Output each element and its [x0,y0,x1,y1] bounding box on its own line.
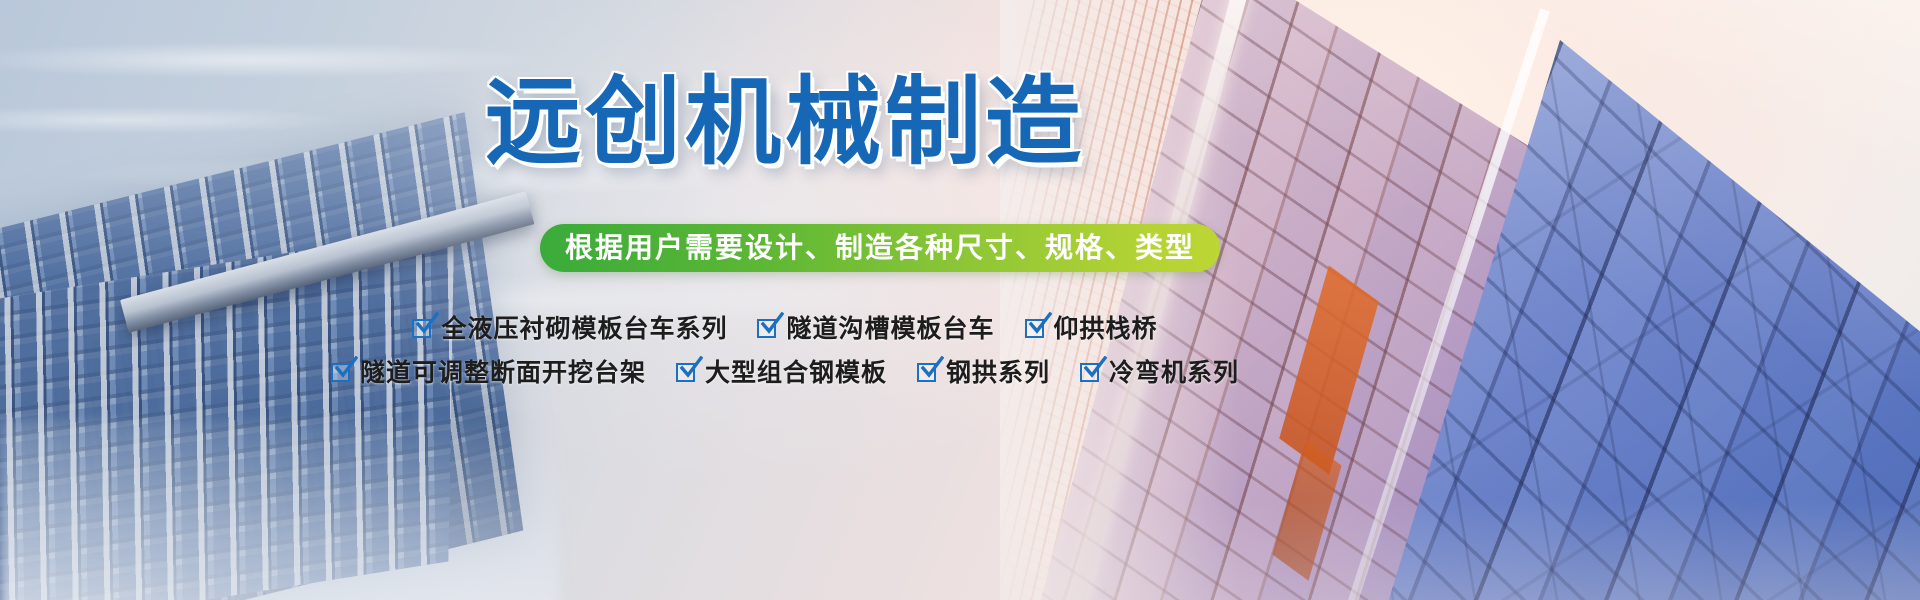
feature-item[interactable]: 大型组合钢模板 [676,360,887,385]
feature-item[interactable]: 钢拱系列 [917,360,1050,385]
feature-item[interactable]: 隧道可调整断面开挖台架 [331,360,646,385]
banner-content: 远创机械制造 根据用户需要设计、制造各种尺寸、规格、类型 全液压衬砌模板台车系列 [0,0,1920,600]
feature-item-label: 全液压衬砌模板台车系列 [441,316,727,341]
feature-item-label: 仰拱栈桥 [1054,316,1158,341]
feature-item[interactable]: 仰拱栈桥 [1025,316,1158,341]
checkbox-checked-icon [1080,363,1099,382]
feature-list: 全液压衬砌模板台车系列 隧道沟槽模板台车 [0,306,1570,394]
checkbox-checked-icon [331,363,350,382]
feature-item-label: 大型组合钢模板 [705,360,887,385]
feature-item[interactable]: 隧道沟槽模板台车 [757,316,994,341]
feature-row: 全液压衬砌模板台车系列 隧道沟槽模板台车 [0,306,1570,350]
subtitle-pill: 根据用户需要设计、制造各种尺寸、规格、类型 [540,224,1220,272]
feature-row: 隧道可调整断面开挖台架 大型组合钢模板 [0,350,1570,394]
promo-banner: 远创机械制造 根据用户需要设计、制造各种尺寸、规格、类型 全液压衬砌模板台车系列 [0,0,1920,600]
feature-item[interactable]: 全液压衬砌模板台车系列 [412,316,727,341]
feature-item-label: 隧道可调整断面开挖台架 [360,360,646,385]
page-title: 远创机械制造 [0,74,1570,170]
subtitle-text: 根据用户需要设计、制造各种尺寸、规格、类型 [565,234,1195,262]
feature-item-label: 冷弯机系列 [1109,360,1239,385]
checkbox-checked-icon [917,363,936,382]
checkbox-checked-icon [757,319,776,338]
feature-item-label: 钢拱系列 [946,360,1050,385]
feature-item-label: 隧道沟槽模板台车 [786,316,994,341]
feature-item[interactable]: 冷弯机系列 [1080,360,1239,385]
checkbox-checked-icon [412,319,431,338]
checkbox-checked-icon [1025,319,1044,338]
checkbox-checked-icon [676,363,695,382]
